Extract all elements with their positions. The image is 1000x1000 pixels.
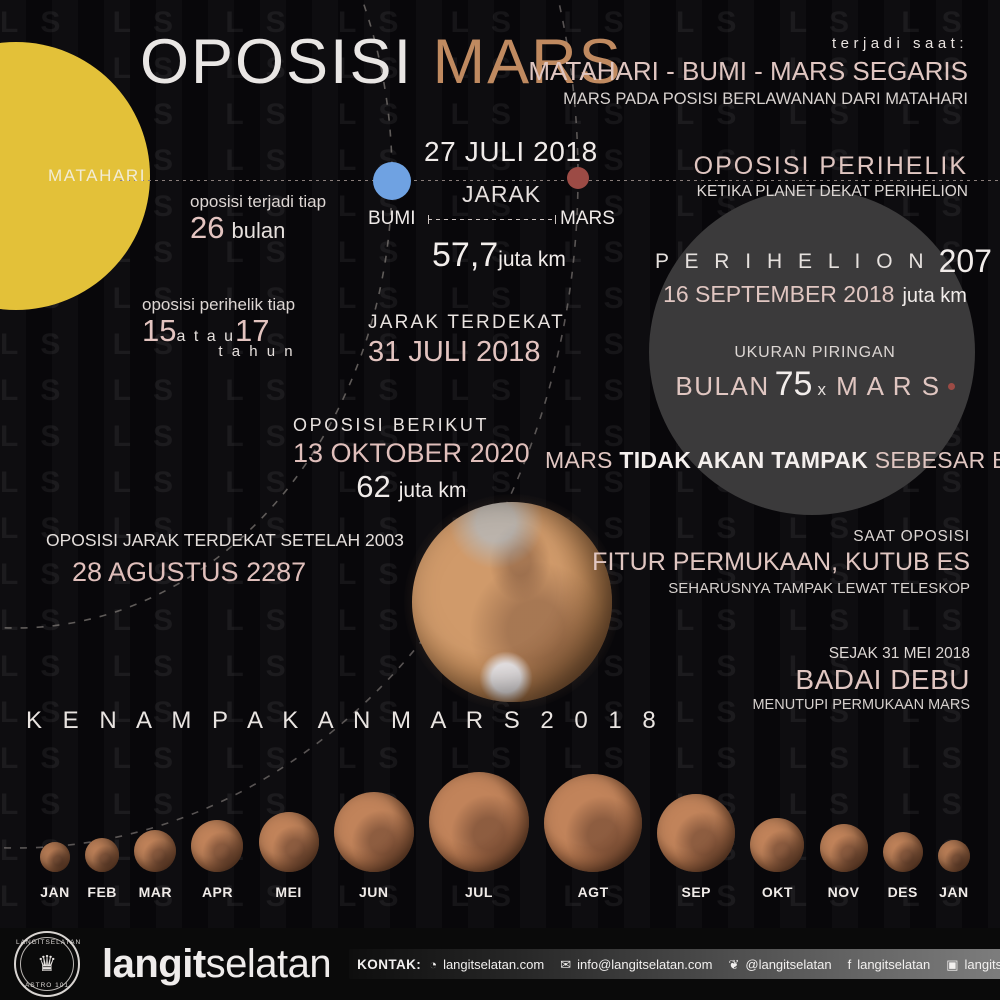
mars-disc: [85, 838, 119, 872]
month-label: JUN: [359, 884, 389, 900]
closest-after-2003-block: OPOSISI JARAK TERDEKAT SETELAH 2003 28 A…: [46, 530, 404, 588]
seal-bottom-text: ASTRO 101: [16, 982, 78, 989]
month-label: JAN: [939, 884, 969, 900]
closest-after-2003-date: 28 AGUSTUS 2287: [46, 557, 404, 588]
month-column: JAN: [938, 840, 970, 900]
opposition-frequency-caption: oposisi terjadi tiap: [190, 192, 326, 212]
opposition-date: 27 JULI 2018: [424, 136, 598, 168]
closest-approach-block: JARAK TERDEKAT 31 JULI 2018: [368, 312, 565, 369]
perihelion-unit: juta km: [902, 285, 966, 307]
occurs-when-block: terjadi saat: MATAHARI - BUMI - MARS SEG…: [528, 35, 968, 109]
disc-size-factor: 75: [775, 365, 813, 403]
not-as-big-post: SEBESAR BULAN: [868, 447, 1000, 473]
brand-light: selatan: [206, 942, 331, 986]
month-column: APR: [191, 820, 243, 900]
surface-features-sub: SEHARUSNYA TAMPAK LEWAT TELESKOP: [592, 580, 970, 597]
perihelic-opposition-block: OPOSISI PERIHELIK KETIKA PLANET DEKAT PE…: [694, 152, 968, 201]
next-opposition-block: OPOSISI BERIKUT 13 OKTOBER 2020 62juta k…: [293, 415, 530, 505]
month-label: SEP: [681, 884, 711, 900]
perihelion-block: P E R I H E L I O N207 16 SEPTEMBER 2018…: [655, 243, 975, 308]
next-opposition-unit: juta km: [399, 479, 467, 502]
mail-icon: ✉: [560, 958, 571, 971]
mars-disc: [883, 832, 923, 872]
closest-after-2003-caption: OPOSISI JARAK TERDEKAT SETELAH 2003: [46, 530, 404, 551]
facebook-icon: f: [848, 958, 852, 971]
perihelion-label: P E R I H E L I O N: [655, 250, 929, 273]
contact-link-text: langitselatanmedia: [965, 957, 1000, 972]
opposition-frequency-block: oposisi terjadi tiap 26bulan: [190, 192, 326, 246]
contact-link[interactable]: flangitselatan: [848, 957, 931, 972]
month-label: APR: [202, 884, 233, 900]
next-opposition-value: 62: [356, 469, 390, 504]
occurs-when-sub: MARS PADA POSISI BERLAWANAN DARI MATAHAR…: [528, 90, 968, 109]
surface-features-headline: FITUR PERMUKAAN, KUTUB ES: [592, 548, 970, 577]
earth-label: BUMI: [368, 208, 416, 230]
month-column: OKT: [750, 818, 804, 900]
footer-bar: LANGITSELATAN ♛ ASTRO 101 langitselatan …: [0, 928, 1000, 1000]
brand-bold: langit: [102, 942, 206, 986]
perihelic-value-1: 15: [142, 313, 176, 348]
distance-measure-line: [428, 219, 556, 220]
month-column: FEB: [85, 838, 119, 900]
month-column: JAN: [40, 842, 70, 900]
mars-marker: [567, 167, 589, 189]
mars-disc: [134, 830, 176, 872]
appearance-chart-title: K E N A M P A K A N M A R S 2 0 1 8: [26, 707, 663, 735]
month-column: JUN: [334, 792, 414, 900]
mars-disc: [938, 840, 970, 872]
opposition-frequency-unit: bulan: [231, 218, 285, 243]
contact-link-text: @langitselatan: [745, 957, 831, 972]
occurs-when-headline: MATAHARI - BUMI - MARS SEGARIS: [528, 56, 968, 87]
mars-disc: [544, 774, 642, 872]
mars-size-dot-icon: [948, 383, 955, 390]
not-as-big-statement: MARS TIDAK AKAN TAMPAK SEBESAR BULAN: [545, 447, 1000, 474]
seal-top-text: LANGITSELATAN: [16, 939, 78, 946]
mars-disc: [820, 824, 868, 872]
month-label: MEI: [275, 884, 301, 900]
contact-bar: KONTAK: ◔langitselatan.com✉info@langitse…: [349, 949, 1000, 979]
sun-label: MATAHARI: [48, 166, 146, 186]
distance-label: JARAK: [462, 181, 541, 208]
month-label: AGT: [578, 884, 609, 900]
distance-value-block: 57,7juta km: [432, 236, 566, 275]
mars-disc: [40, 842, 70, 872]
next-opposition-date: 13 OKTOBER 2020: [293, 438, 530, 469]
contact-link[interactable]: ❦@langitselatan: [728, 957, 831, 972]
month-column: NOV: [820, 824, 868, 900]
month-label: NOV: [828, 884, 860, 900]
mars-disc: [750, 818, 804, 872]
mars-disc: [191, 820, 243, 872]
closest-approach-caption: JARAK TERDEKAT: [368, 312, 565, 334]
rss-icon: ◔: [429, 958, 437, 971]
dust-storm-caption: SEJAK 31 MEI 2018: [752, 645, 970, 663]
brand-wordmark: langitselatan: [102, 942, 331, 987]
surface-features-caption: SAAT OPOSISI: [592, 528, 970, 546]
month-label: JUL: [465, 884, 493, 900]
distance-unit: juta km: [498, 248, 566, 271]
disc-size-caption: UKURAN PIRINGAN: [655, 344, 975, 362]
instagram-icon: ▣: [946, 958, 958, 971]
contact-link[interactable]: ✉info@langitselatan.com: [560, 957, 712, 972]
dust-storm-block: SEJAK 31 MEI 2018 BADAI DEBU MENUTUPI PE…: [752, 645, 970, 713]
month-column: MEI: [259, 812, 319, 900]
month-column: MAR: [134, 830, 176, 900]
month-label: MAR: [139, 884, 172, 900]
not-as-big-pre: MARS: [545, 447, 619, 473]
perihelion-date: 16 SEPTEMBER 2018: [663, 281, 894, 307]
title-word-oposisi: OPOSISI: [140, 27, 413, 97]
earth-marker: [373, 162, 411, 200]
disc-size-mars: M A R S: [836, 371, 940, 401]
contact-link-text: langitselatan: [857, 957, 930, 972]
occurs-when-caption: terjadi saat:: [528, 35, 968, 52]
twitter-icon: ❦: [728, 958, 739, 971]
opposition-frequency-value: 26: [190, 210, 224, 245]
mars-label: MARS: [560, 208, 615, 230]
mars-disc: [657, 794, 735, 872]
langitselatan-seal-logo: LANGITSELATAN ♛ ASTRO 101: [14, 931, 80, 997]
disc-size-block: UKURAN PIRINGAN BULAN75x M A R S: [655, 344, 975, 404]
month-label: DES: [888, 884, 918, 900]
kontak-label: KONTAK:: [357, 957, 421, 972]
mars-disc: [429, 772, 529, 872]
perihelic-frequency-caption: oposisi perihelik tiap: [142, 295, 295, 315]
dust-storm-sub: MENUTUPI PERMUKAAN MARS: [752, 697, 970, 713]
month-column: SEP: [657, 794, 735, 900]
next-opposition-caption: OPOSISI BERIKUT: [293, 415, 530, 436]
perihelic-opposition-sub: KETIKA PLANET DEKAT PERIHELION: [694, 183, 968, 201]
disc-size-times: x: [817, 380, 827, 399]
month-label: OKT: [762, 884, 793, 900]
month-column: AGT: [544, 774, 642, 900]
contact-link-text: info@langitselatan.com: [577, 957, 712, 972]
contact-link[interactable]: ◔langitselatan.com: [429, 957, 544, 972]
month-label: JAN: [40, 884, 70, 900]
month-column: DES: [883, 832, 923, 900]
mars-disc: [259, 812, 319, 872]
distance-value: 57,7: [432, 236, 498, 274]
month-label: FEB: [87, 884, 117, 900]
closest-approach-date: 31 JULI 2018: [368, 336, 565, 369]
disc-size-moon: BULAN: [675, 371, 769, 401]
surface-features-block: SAAT OPOSISI FITUR PERMUKAAN, KUTUB ES S…: [592, 528, 970, 597]
contact-link-text: langitselatan.com: [443, 957, 544, 972]
contact-link[interactable]: ▣langitselatanmedia: [946, 957, 1000, 972]
mars-disc: [334, 792, 414, 872]
not-as-big-bold: TIDAK AKAN TAMPAK: [619, 447, 868, 473]
dust-storm-headline: BADAI DEBU: [752, 664, 970, 696]
perihelion-value: 207: [939, 243, 992, 280]
perihelic-frequency-block: oposisi perihelik tiap 15a t a u17 t a h…: [142, 295, 295, 360]
mars-photo: [412, 502, 612, 702]
infographic-canvas: LS LS LS LS LS LS LS LS LS LS LS LS LS L…: [0, 0, 1000, 1000]
perihelic-opposition-headline: OPOSISI PERIHELIK: [694, 152, 968, 181]
mars-size-chart: JANFEBMARAPRMEIJUNJULAGTSEPOKTNOVDESJAN: [40, 760, 970, 900]
month-column: JUL: [429, 772, 529, 900]
